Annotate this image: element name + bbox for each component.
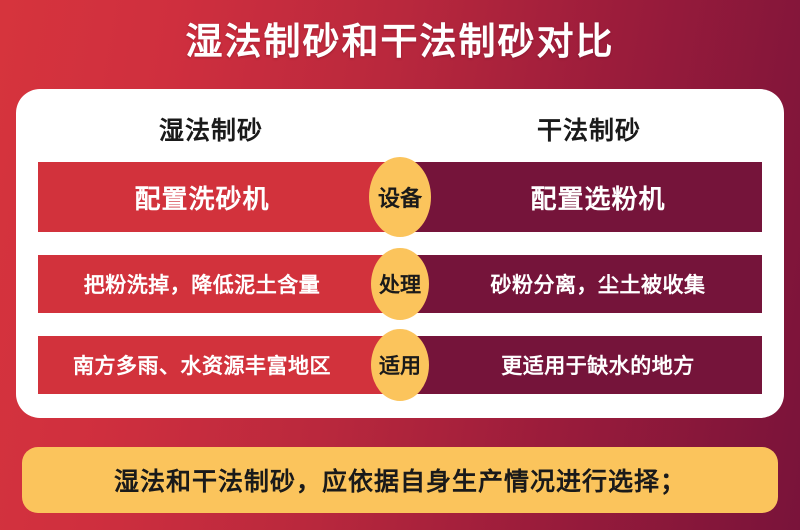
table-row: 配置洗砂机 设备 配置选粉机 <box>38 162 762 232</box>
poster-title-bar: 湿法制砂和干法制砂对比 <box>0 10 800 72</box>
row-3-category-badge: 适用 <box>371 329 429 401</box>
column-header-wet: 湿法制砂 <box>38 111 400 147</box>
row-3-wet-value: 南方多雨、水资源丰富地区 <box>38 336 400 394</box>
page-title: 湿法制砂和干法制砂对比 <box>186 23 615 60</box>
row-3-dry-value: 更适用于缺水的地方 <box>400 336 762 394</box>
row-1-dry-value: 配置选粉机 <box>400 162 762 232</box>
column-header-row: 湿法制砂 干法制砂 <box>38 103 762 155</box>
comparison-rows: 配置洗砂机 设备 配置选粉机 把粉洗掉，降低泥土含量 处理 砂粉分离，尘土被收集… <box>38 162 762 394</box>
footer-note-text: 湿法和干法制砂，应依据自身生产情况进行选择； <box>114 462 686 498</box>
row-2-wet-value: 把粉洗掉，降低泥土含量 <box>38 255 400 313</box>
table-row: 把粉洗掉，降低泥土含量 处理 砂粉分离，尘土被收集 <box>38 255 762 313</box>
footer-note-banner: 湿法和干法制砂，应依据自身生产情况进行选择； <box>22 447 778 513</box>
comparison-card: 湿法制砂 干法制砂 配置洗砂机 设备 配置选粉机 把粉洗掉，降低泥土含量 处理 … <box>16 89 784 418</box>
table-row: 南方多雨、水资源丰富地区 适用 更适用于缺水的地方 <box>38 336 762 394</box>
row-2-dry-value: 砂粉分离，尘土被收集 <box>400 255 762 313</box>
row-1-wet-value: 配置洗砂机 <box>38 162 400 232</box>
row-2-category-badge: 处理 <box>371 248 429 320</box>
row-1-category-badge: 设备 <box>369 157 431 237</box>
infographic-poster: 湿法制砂和干法制砂对比 湿法制砂 干法制砂 配置洗砂机 设备 配置选粉机 把粉洗… <box>0 0 800 530</box>
column-header-dry: 干法制砂 <box>400 111 762 147</box>
